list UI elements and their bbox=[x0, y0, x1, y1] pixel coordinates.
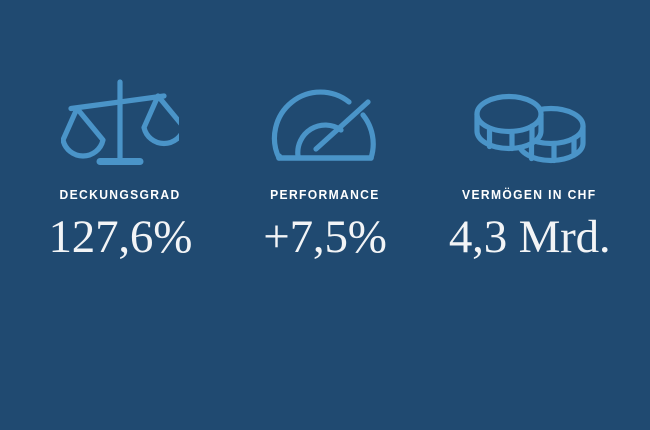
kpi-icon-container-performance bbox=[223, 0, 428, 150]
kpi-value-vermoegen: 4,3 Mrd. bbox=[449, 212, 611, 263]
kpi-label-performance: PERFORMANCE bbox=[270, 188, 380, 201]
kpi-icon-container-deckungsgrad bbox=[18, 0, 223, 150]
kpi-value-deckungsgrad: 127,6% bbox=[48, 212, 192, 263]
gauge-icon bbox=[271, 86, 379, 166]
coins-icon bbox=[474, 81, 586, 167]
kpi-value-performance: +7,5% bbox=[263, 212, 386, 263]
kpi-card-deckungsgrad: DECKUNGSGRAD 127,6% bbox=[18, 0, 223, 263]
kpi-row: DECKUNGSGRAD 127,6% PERFORMANCE +7, bbox=[0, 0, 650, 430]
kpi-icon-container-vermoegen bbox=[427, 0, 632, 150]
kpi-label-vermoegen: VERMÖGEN IN CHF bbox=[462, 188, 596, 201]
kpi-label-deckungsgrad: DECKUNGSGRAD bbox=[60, 188, 181, 201]
balance-scale-icon bbox=[61, 78, 179, 170]
kpi-card-performance: PERFORMANCE +7,5% bbox=[223, 0, 428, 263]
kpi-card-vermoegen: VERMÖGEN IN CHF 4,3 Mrd. bbox=[427, 0, 632, 263]
kpi-panel: DECKUNGSGRAD 127,6% PERFORMANCE +7, bbox=[0, 0, 650, 430]
